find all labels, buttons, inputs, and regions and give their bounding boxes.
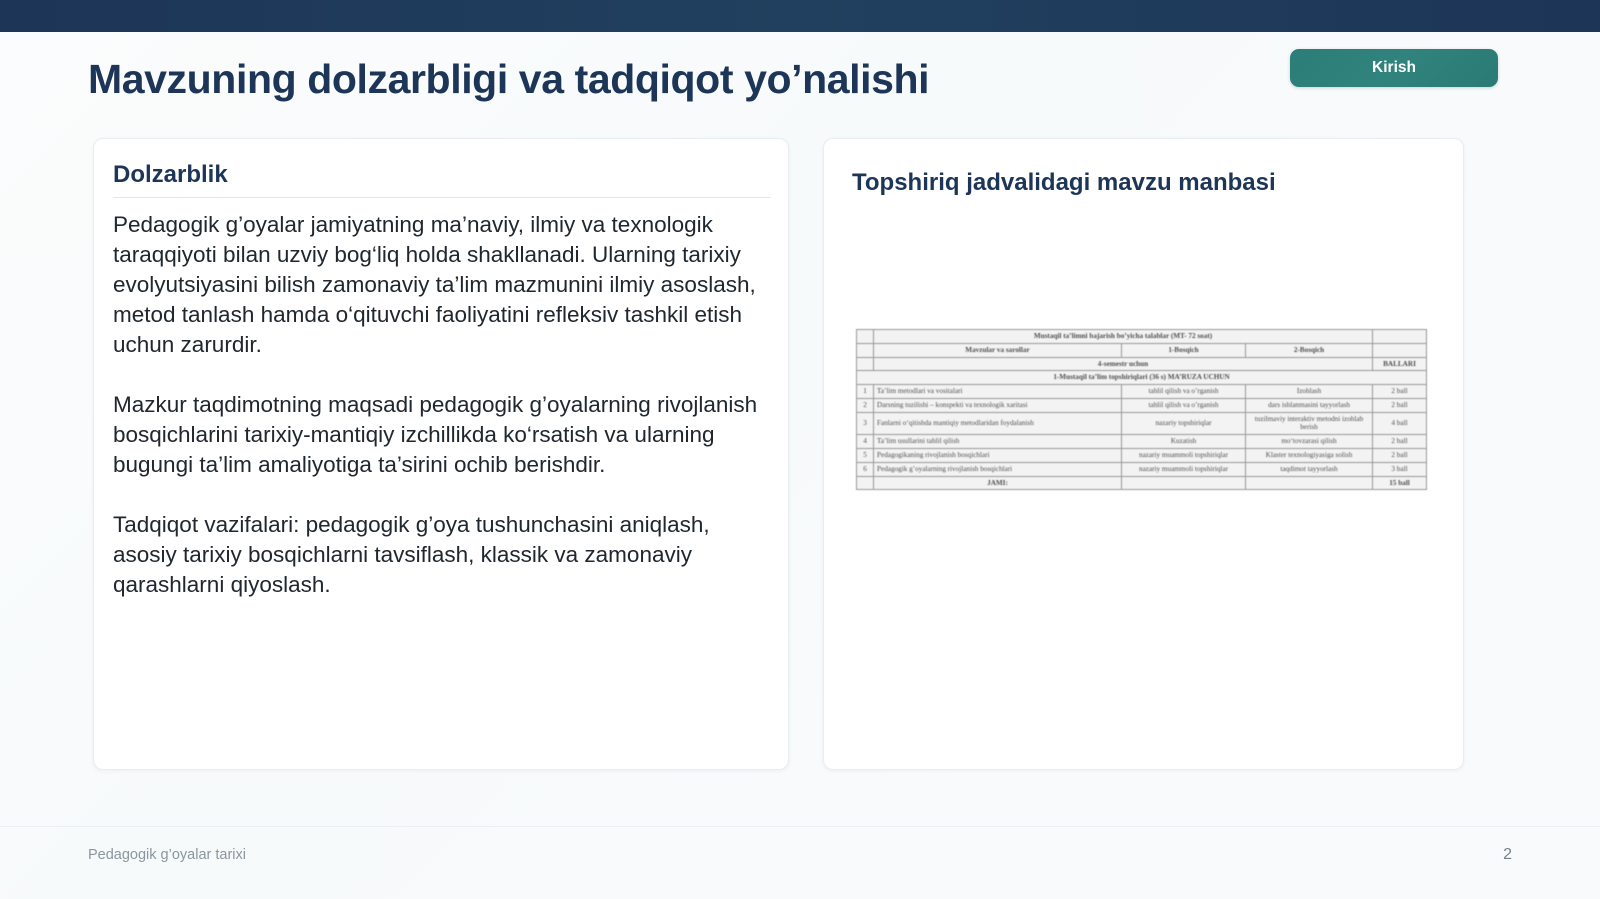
paragraph-3: Tadqiqot vazifalari: pedagogik g’oya tus… bbox=[113, 510, 771, 600]
spacer-cell bbox=[857, 343, 874, 357]
row-number: 1 bbox=[857, 385, 874, 399]
table-caption: Mustaqil ta’limni bajarish bo’yicha tala… bbox=[874, 330, 1373, 344]
table-row: 4 Ta’lim usullarini tahlil qilish Kuzati… bbox=[857, 435, 1427, 449]
total-spacer-1 bbox=[1122, 476, 1246, 490]
row-number: 4 bbox=[857, 435, 874, 449]
footer-divider bbox=[0, 826, 1600, 827]
spacer-cell bbox=[1373, 330, 1427, 344]
card-divider bbox=[113, 197, 771, 198]
table-row: 5 Pedagogikaning rivojlanish bosqichlari… bbox=[857, 449, 1427, 463]
row-bosqich2: dars ishlanmasini tayyorlash bbox=[1246, 398, 1373, 412]
row-bosqich2: taqdimot tayyorlash bbox=[1246, 462, 1373, 476]
table-semester-row: 4-semestr uchun BALLARI bbox=[857, 357, 1427, 371]
table-caption-row: Mustaqil ta’limni bajarish bo’yicha tala… bbox=[857, 330, 1427, 344]
topshiriq-table: Mustaqil ta’limni bajarish bo’yicha tala… bbox=[856, 329, 1427, 490]
semester-label: 4-semestr uchun bbox=[874, 357, 1373, 371]
dolzarblik-card: Dolzarblik Pedagogik g’oyalar jamiyatnin… bbox=[93, 138, 789, 770]
dolzarblik-heading: Dolzarblik bbox=[113, 161, 228, 189]
row-bosqich1: nazariy muammoli topshiriqlar bbox=[1122, 449, 1246, 463]
total-label: JAMI: bbox=[874, 476, 1122, 490]
row-bosqich2: Klaster texnologiyasiga solish bbox=[1246, 449, 1373, 463]
table-row: 3 Fanlarni o‘qitishda mantiqiy metodlari… bbox=[857, 412, 1427, 435]
row-bosqich1: nazariy muammoli topshiriqlar bbox=[1122, 462, 1246, 476]
ballari-header: BALLARI bbox=[1373, 357, 1427, 371]
table-total-row: JAMI: 15 ball bbox=[857, 476, 1427, 490]
row-bosqich2: mo‘tovzarasi qilish bbox=[1246, 435, 1373, 449]
scanned-table-image: Mustaqil ta’limni bajarish bo’yicha tala… bbox=[856, 329, 1426, 490]
column-header-bosqich1: 1-Bosqich bbox=[1122, 343, 1246, 357]
row-ball: 2 ball bbox=[1373, 449, 1427, 463]
row-mavzu: Pedagogikaning rivojlanish bosqichlari bbox=[874, 449, 1122, 463]
top-accent-bar bbox=[0, 0, 1600, 32]
spacer-cell bbox=[857, 330, 874, 344]
footer-text: Pedagogik g’oyalar tarixi bbox=[88, 847, 246, 863]
row-ball: 2 ball bbox=[1373, 435, 1427, 449]
paragraph-1: Pedagogik g’oyalar jamiyatning ma’naviy,… bbox=[113, 210, 771, 360]
table-header-row: Mavzular va sarollar 1-Bosqich 2-Bosqich bbox=[857, 343, 1427, 357]
column-header-mavzular: Mavzular va sarollar bbox=[874, 343, 1122, 357]
row-number: 5 bbox=[857, 449, 874, 463]
table-row: 1 Ta’lim metodlari va vositalari tahlil … bbox=[857, 385, 1427, 399]
row-ball: 2 ball bbox=[1373, 385, 1427, 399]
kirish-badge[interactable]: Kirish bbox=[1290, 49, 1498, 87]
row-bosqich2: Izohlash bbox=[1246, 385, 1373, 399]
page-number: 2 bbox=[1503, 846, 1512, 864]
row-mavzu: Darsning tuzilishi – konspekti va texnol… bbox=[874, 398, 1122, 412]
row-ball: 4 ball bbox=[1373, 412, 1427, 435]
row-ball: 3 ball bbox=[1373, 462, 1427, 476]
table-row: 2 Darsning tuzilishi – konspekti va texn… bbox=[857, 398, 1427, 412]
section-label: 1-Mustaqil ta’lim topshiriqlari (36 s) M… bbox=[857, 371, 1427, 385]
spacer-cell bbox=[857, 476, 874, 490]
row-bosqich2: tuzilmaviy interaktiv metodni izohlab be… bbox=[1246, 412, 1373, 435]
row-ball: 2 ball bbox=[1373, 398, 1427, 412]
table-section-row: 1-Mustaqil ta’lim topshiriqlari (36 s) M… bbox=[857, 371, 1427, 385]
row-mavzu: Ta’lim metodlari va vositalari bbox=[874, 385, 1122, 399]
slide-root: Mavzuning dolzarbligi va tadqiqot yo’nal… bbox=[0, 0, 1600, 899]
row-bosqich1: tahlil qilish va o’rganish bbox=[1122, 385, 1246, 399]
spacer-cell bbox=[857, 357, 874, 371]
kirish-badge-label: Kirish bbox=[1372, 59, 1416, 77]
row-bosqich1: Kuzatish bbox=[1122, 435, 1246, 449]
row-number: 3 bbox=[857, 412, 874, 435]
row-mavzu: Fanlarni o‘qitishda mantiqiy metodlarida… bbox=[874, 412, 1122, 435]
row-mavzu: Pedagogik g’oyalarning rivojlanish bosqi… bbox=[874, 462, 1122, 476]
row-mavzu: Ta’lim usullarini tahlil qilish bbox=[874, 435, 1122, 449]
total-ball: 15 ball bbox=[1373, 476, 1427, 490]
page-title: Mavzuning dolzarbligi va tadqiqot yo’nal… bbox=[88, 56, 929, 103]
row-bosqich1: tahlil qilish va o’rganish bbox=[1122, 398, 1246, 412]
row-number: 2 bbox=[857, 398, 874, 412]
dolzarblik-body: Pedagogik g’oyalar jamiyatning ma’naviy,… bbox=[113, 210, 771, 600]
spacer-cell bbox=[1373, 343, 1427, 357]
topshiriq-heading: Topshiriq jadvalidagi mavzu manbasi bbox=[852, 169, 1276, 197]
column-header-bosqich2: 2-Bosqich bbox=[1246, 343, 1373, 357]
row-number: 6 bbox=[857, 462, 874, 476]
topshiriq-card: Topshiriq jadvalidagi mavzu manbasi Must… bbox=[823, 138, 1464, 770]
total-spacer-2 bbox=[1246, 476, 1373, 490]
paragraph-2: Mazkur taqdimotning maqsadi pedagogik g’… bbox=[113, 390, 771, 480]
row-bosqich1: nazariy topshiriqlar bbox=[1122, 412, 1246, 435]
table-row: 6 Pedagogik g’oyalarning rivojlanish bos… bbox=[857, 462, 1427, 476]
